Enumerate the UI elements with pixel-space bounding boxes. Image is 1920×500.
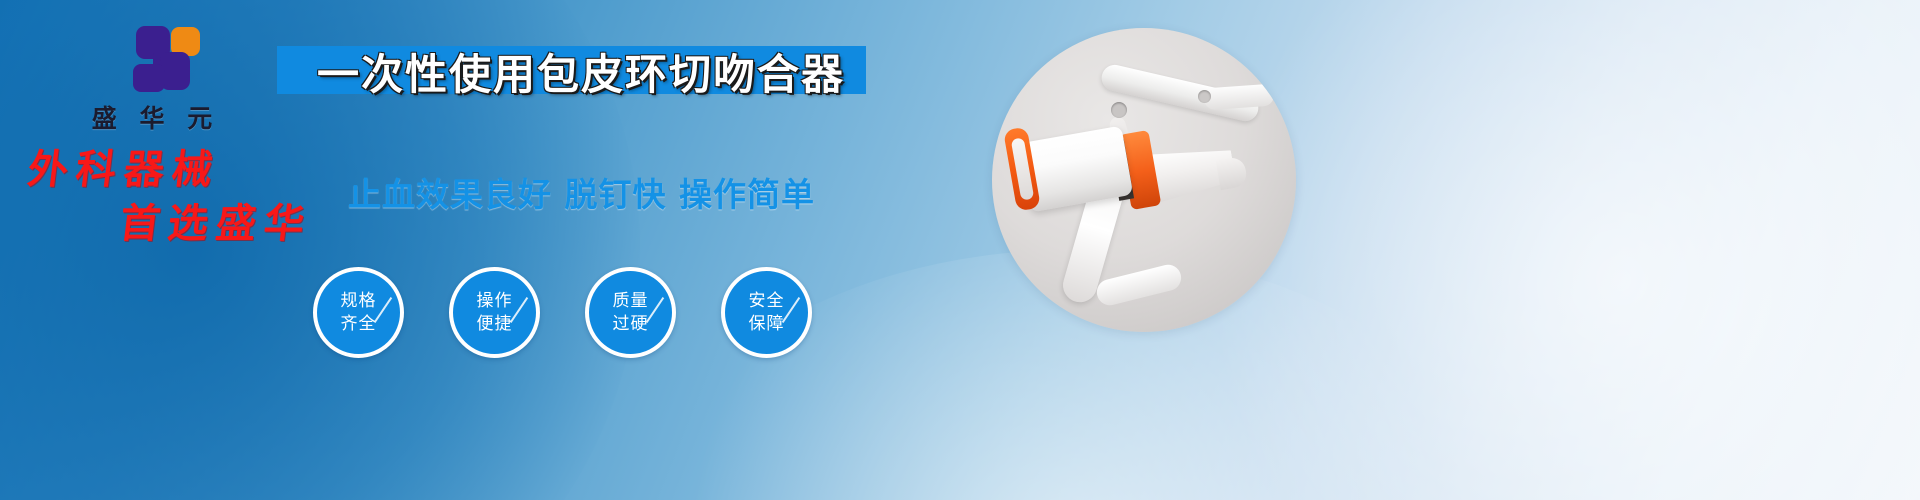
- subtitle: 止血效果良好 脱钉快 操作简单: [348, 168, 815, 216]
- shenghuayuan-squares-logo-icon: [116, 26, 188, 92]
- brand-name: 盛 华 元: [62, 99, 242, 135]
- feature-badge-line-2: 过硬: [613, 313, 649, 335]
- product-pivot-upper: [1198, 90, 1211, 103]
- feature-badge-line-1: 规格: [341, 290, 377, 312]
- product-nose-tip: [1216, 156, 1249, 190]
- product-upper-arm-tip: [1203, 84, 1274, 111]
- product-photo[interactable]: [992, 28, 1296, 332]
- product-pivot-lower: [1111, 102, 1127, 118]
- feature-badge-line-2: 便捷: [477, 313, 513, 335]
- slash-divider-icon: [782, 297, 800, 323]
- feature-badge[interactable]: 操作 便捷: [449, 267, 540, 358]
- slash-divider-icon: [510, 297, 528, 323]
- feature-badge[interactable]: 安全 保障: [721, 267, 812, 358]
- feature-badge-line-1: 质量: [613, 290, 649, 312]
- brush-slogan-line-1: 外科器械: [26, 150, 357, 190]
- background-glow-right: [1170, 0, 1920, 500]
- slash-divider-icon: [646, 297, 664, 323]
- brush-slogan: 外科器械 首选盛华: [24, 150, 354, 244]
- feature-badge-line-2: 齐全: [341, 313, 377, 335]
- page-title: 一次性使用包皮环切吻合器: [296, 43, 866, 99]
- feature-badge-line-2: 保障: [749, 313, 785, 335]
- feature-badge-line-1: 操作: [477, 290, 513, 312]
- feature-badge[interactable]: 质量 过硬: [585, 267, 676, 358]
- slash-divider-icon: [374, 297, 392, 323]
- product-lower-handle-tip: [1094, 262, 1184, 308]
- brand-logo-block[interactable]: 盛 华 元: [62, 26, 242, 135]
- feature-badge-line-1: 安全: [749, 290, 785, 312]
- brush-slogan-line-2: 首选盛华: [118, 204, 357, 244]
- feature-badge[interactable]: 规格 齐全: [313, 267, 404, 358]
- logo-square-purple-bottom: [133, 64, 165, 92]
- feature-badge-list: 规格 齐全 操作 便捷 质量 过硬 安全 保障: [313, 267, 812, 358]
